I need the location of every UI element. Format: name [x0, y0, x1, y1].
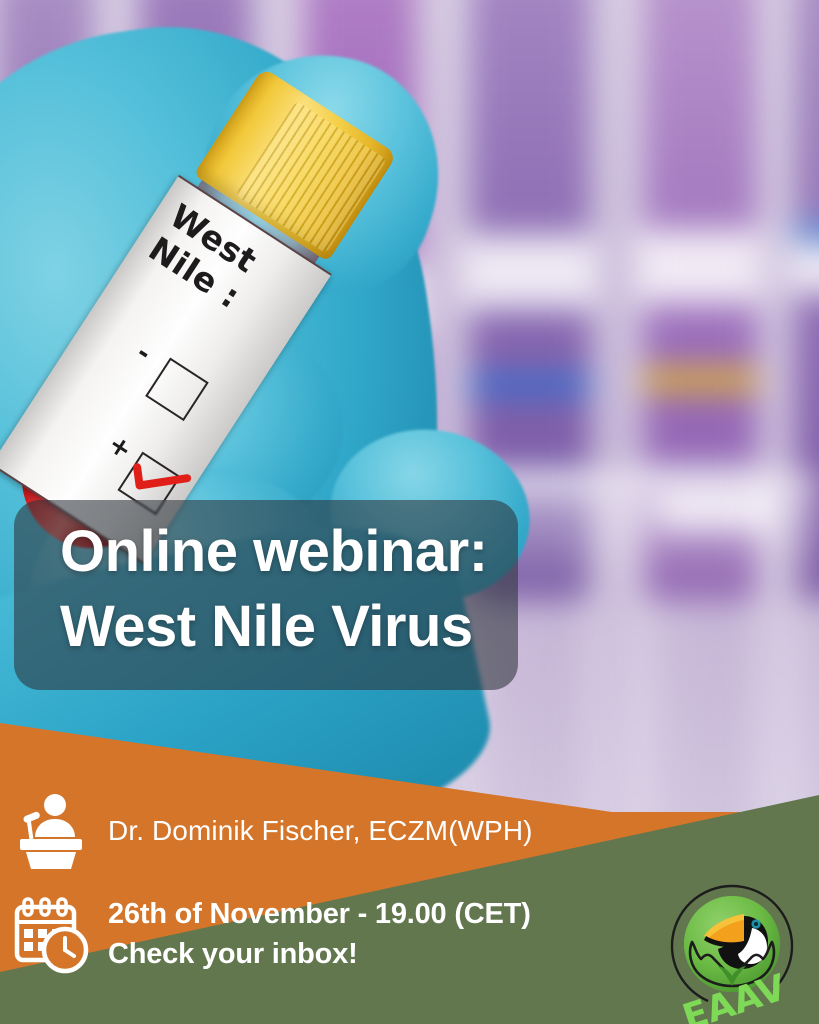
eaav-logo: EAAV — [660, 880, 812, 1024]
schedule-text: 26th of November - 19.00 (CET) Check you… — [108, 895, 531, 974]
poster-title: Online webinar: West Nile Virus — [60, 514, 488, 665]
negative-sign: - — [131, 338, 156, 369]
speaker-row: Dr. Dominik Fischer, ECZM(WPH) — [14, 793, 533, 869]
speaker-name: Dr. Dominik Fischer, ECZM(WPH) — [108, 815, 533, 847]
rack-column — [640, 470, 790, 590]
schedule-row: 26th of November - 19.00 (CET) Check you… — [10, 895, 531, 975]
positive-sign: + — [103, 429, 138, 466]
calendar-clock-icon — [10, 895, 90, 975]
speaker-podium-icon — [14, 793, 86, 869]
webinar-poster: West Nile : - + Online webinar: West Nil… — [0, 0, 819, 1024]
title-overlay-box: Online webinar: West Nile Virus — [14, 500, 518, 690]
negative-checkbox — [145, 357, 209, 421]
